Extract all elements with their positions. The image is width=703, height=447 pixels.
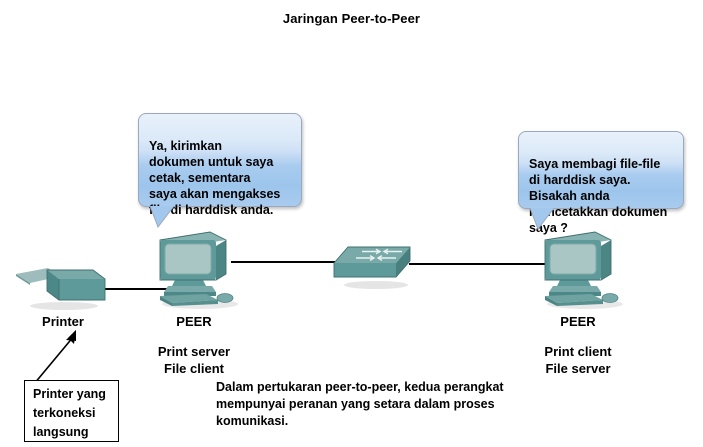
network-switch-icon [330,243,416,291]
speech-bubble-peer-a-tail [150,206,176,228]
peer-a-label: PEER [134,313,254,330]
peer-b-label: PEER [518,313,638,330]
diagram-caption-text: Dalam pertukaran peer-to-peer, kedua per… [216,380,504,428]
peer-b-roles: Print client File server [498,343,658,377]
printer-label: Printer [8,313,118,330]
link-peer-a-to-switch [231,261,339,263]
callout-text: Printer yang terkoneksi langsung [33,387,106,439]
callout-arrow-icon [28,328,84,386]
diagram-caption: Dalam pertukaran peer-to-peer, kedua per… [216,379,556,430]
diagram-canvas: Jaringan Peer-to-Peer Printer [0,0,703,447]
callout-box: Printer yang terkoneksi langsung [24,380,119,442]
peer-a-roles: Print server File client [114,343,274,377]
speech-bubble-peer-b: Saya membagi file-file di harddisk saya.… [518,131,684,209]
speech-bubble-peer-b-tail [530,208,556,230]
desktop-computer-icon [148,228,240,310]
printer-icon [14,262,106,310]
page-title: Jaringan Peer-to-Peer [0,11,703,26]
speech-bubble-peer-a: Ya, kirimkan dokumen untuk saya cetak, s… [138,113,302,207]
